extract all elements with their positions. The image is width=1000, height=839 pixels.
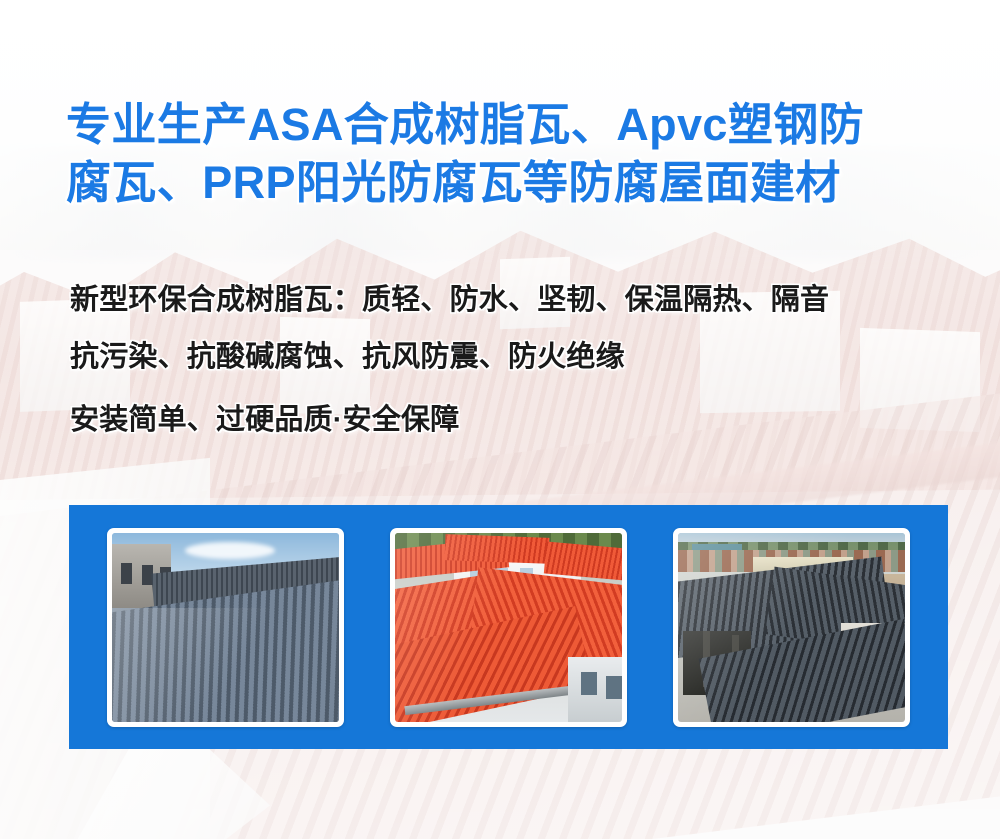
gallery-photo-grey-roof [107,528,344,727]
photo-cloud [185,542,276,559]
red-resin-tile-roof-image [395,533,622,722]
gallery-photo-red-roof [390,528,627,727]
dark-resin-tile-roof-image [678,533,905,722]
photo-sun-glare [395,533,622,722]
subheading-line-3: 安装简单、过硬品质·安全保障 [70,396,960,438]
grey-resin-tile-roof-image [112,533,339,722]
photo-sun-glare [678,533,905,722]
subheading-line-1: 新型环保合成树脂瓦：质轻、防水、坚韧、保温隔热、隔音 [70,276,960,318]
subheading-line-2: 抗污染、抗酸碱腐蚀、抗风防震、防火绝缘 [70,333,960,375]
page-title: 专业生产ASA合成树脂瓦、Apvc塑钢防 腐瓦、PRP阳光防腐瓦等防腐屋面建材 [66,96,946,212]
photo-window [121,563,132,584]
headline-line-2: 腐瓦、PRP阳光防腐瓦等防腐屋面建材 [66,154,946,212]
photo-sun-glare [112,608,339,721]
product-banner: 专业生产ASA合成树脂瓦、Apvc塑钢防 腐瓦、PRP阳光防腐瓦等防腐屋面建材 … [0,0,1000,839]
gallery-photo-dark-roof [673,528,910,727]
photo-gallery-panel [69,505,948,749]
headline-line-1: 专业生产ASA合成树脂瓦、Apvc塑钢防 [66,96,946,154]
